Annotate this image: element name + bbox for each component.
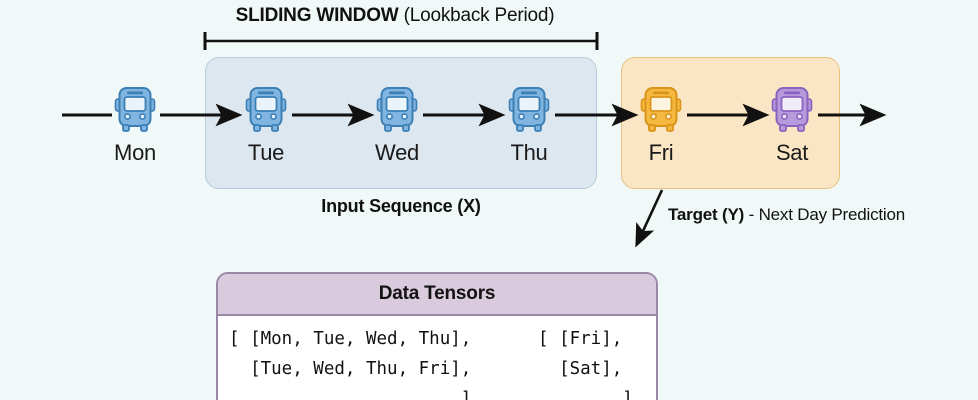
sliding-window-title-bold: SLIDING WINDOW xyxy=(236,5,399,26)
input-sequence-caption: Input Sequence (X) xyxy=(205,196,597,217)
sliding-window-bracket-icon xyxy=(203,30,603,52)
data-tensors-title: Data Tensors xyxy=(218,274,656,316)
tensor-x-text: [ [Mon, Tue, Wed, Thu], [Tue, Wed, Thu, … xyxy=(229,324,471,400)
timeline-node-fri[interactable]: Fri xyxy=(606,82,716,166)
timeline-node-mon[interactable]: Mon xyxy=(80,82,190,166)
bus-icon xyxy=(770,85,814,135)
bus-icon-wrap-wed xyxy=(342,82,452,138)
bus-icon xyxy=(639,85,683,135)
day-label-mon: Mon xyxy=(80,140,190,166)
timeline-node-thu[interactable]: Thu xyxy=(474,82,584,166)
sliding-window-title-rest: (Lookback Period) xyxy=(399,5,555,26)
day-label-sat: Sat xyxy=(737,140,847,166)
bus-icon-wrap-sat xyxy=(737,82,847,138)
bus-icon-wrap-thu xyxy=(474,82,584,138)
diagram-canvas: SLIDING WINDOW (Lookback Period) xyxy=(0,0,978,400)
sliding-window-title: SLIDING WINDOW (Lookback Period) xyxy=(0,5,790,27)
bus-icon xyxy=(375,85,419,135)
bus-icon-wrap-tue xyxy=(211,82,321,138)
target-caption-bold: Target (Y) xyxy=(668,205,744,224)
bus-icon xyxy=(507,85,551,135)
day-label-wed: Wed xyxy=(342,140,452,166)
timeline-node-sat[interactable]: Sat xyxy=(737,82,847,166)
day-label-thu: Thu xyxy=(474,140,584,166)
target-caption-rest: - Next Day Prediction xyxy=(744,205,905,224)
day-label-tue: Tue xyxy=(211,140,321,166)
tensor-y-text: [ [Fri], [Sat], ] xyxy=(538,324,633,400)
bus-icon-wrap-fri xyxy=(606,82,716,138)
timeline-node-tue[interactable]: Tue xyxy=(211,82,321,166)
target-caption: Target (Y) - Next Day Prediction xyxy=(668,205,905,225)
timeline-node-wed[interactable]: Wed xyxy=(342,82,452,166)
bus-icon xyxy=(244,85,288,135)
day-label-fri: Fri xyxy=(606,140,716,166)
data-tensors-body: [ [Mon, Tue, Wed, Thu], [Tue, Wed, Thu, … xyxy=(218,316,656,400)
bus-icon xyxy=(113,85,157,135)
data-tensors-panel: Data Tensors [ [Mon, Tue, Wed, Thu], [Tu… xyxy=(216,272,658,400)
bus-icon-wrap-mon xyxy=(80,82,190,138)
